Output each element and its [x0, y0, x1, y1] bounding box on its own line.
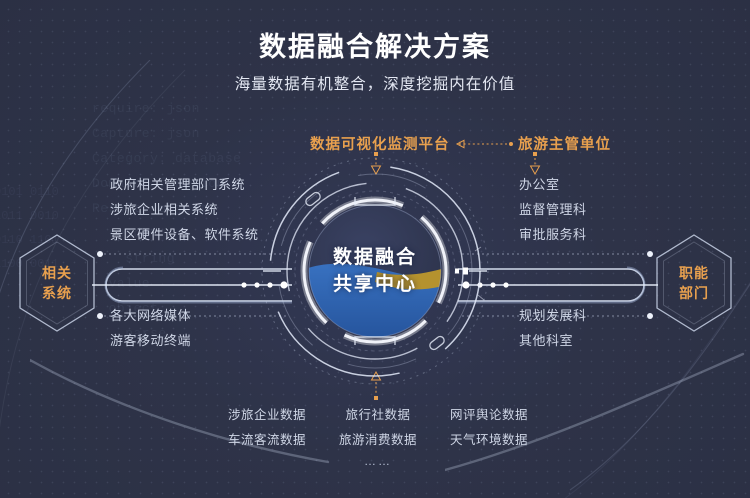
- hub-core-label: 数据融合 共享中心: [259, 155, 491, 387]
- hexagon-right-line1: 职能: [679, 263, 709, 283]
- list-item: 旅行社数据: [331, 403, 426, 428]
- list-item: 涉旅企业数据: [228, 403, 323, 428]
- list-item: 政府相关管理部门系统: [110, 172, 259, 197]
- left-source-systems-list: 政府相关管理部门系统 涉旅企业相关系统 景区硬件设备、软件系统: [110, 172, 259, 247]
- data-row-2: 车流客流数据 旅游消费数据 天气环境数据: [228, 428, 528, 453]
- hexagon-functional-departments[interactable]: 职能 部门: [654, 233, 734, 333]
- list-item: 办公室: [519, 172, 587, 197]
- right-department-list-top: 办公室 监督管理科 审批服务科: [519, 172, 587, 247]
- hexagon-left-line1: 相关: [42, 263, 72, 283]
- list-item: 旅游消费数据: [331, 428, 426, 453]
- list-item: 网评舆论数据: [433, 403, 528, 428]
- list-item: 其他科室: [519, 328, 587, 353]
- list-item: 涉旅企业相关系统: [110, 197, 259, 222]
- page-subtitle: 海量数据有机整合，深度挖掘内在价值: [0, 72, 750, 94]
- arrow-authority-to-platform: [447, 136, 517, 152]
- hexagon-right-line2: 部门: [679, 283, 709, 303]
- list-item: 审批服务科: [519, 222, 587, 247]
- list-item: 景区硬件设备、软件系统: [110, 222, 259, 247]
- page-title: 数据融合解决方案: [0, 25, 750, 64]
- hexagon-related-systems[interactable]: 相关 系统: [17, 233, 97, 333]
- bottom-data-sources: 涉旅企业数据 旅行社数据 网评舆论数据 车流客流数据 旅游消费数据 天气环境数据…: [228, 403, 528, 468]
- hexagon-left-label: 相关 系统: [17, 233, 97, 333]
- list-item: 车流客流数据: [228, 428, 323, 453]
- hexagon-left-line2: 系统: [42, 283, 72, 303]
- label-tourism-authority: 旅游主管单位: [518, 133, 611, 154]
- hub-core-line2: 共享中心: [333, 271, 417, 298]
- hexagon-right-label: 职能 部门: [654, 233, 734, 333]
- list-item: 游客移动终端: [110, 328, 191, 353]
- infographic-canvas: require: json Capture: json Category: da…: [0, 0, 750, 498]
- label-visualization-platform: 数据可视化监测平台: [310, 133, 450, 154]
- list-item: 监督管理科: [519, 197, 587, 222]
- list-item: 天气环境数据: [433, 428, 528, 453]
- data-fusion-hub[interactable]: 数据融合 共享中心: [259, 155, 491, 387]
- data-row-1: 涉旅企业数据 旅行社数据 网评舆论数据: [228, 403, 528, 428]
- ellipsis-indicator: ……: [228, 454, 528, 468]
- hub-core-line1: 数据融合: [333, 244, 417, 271]
